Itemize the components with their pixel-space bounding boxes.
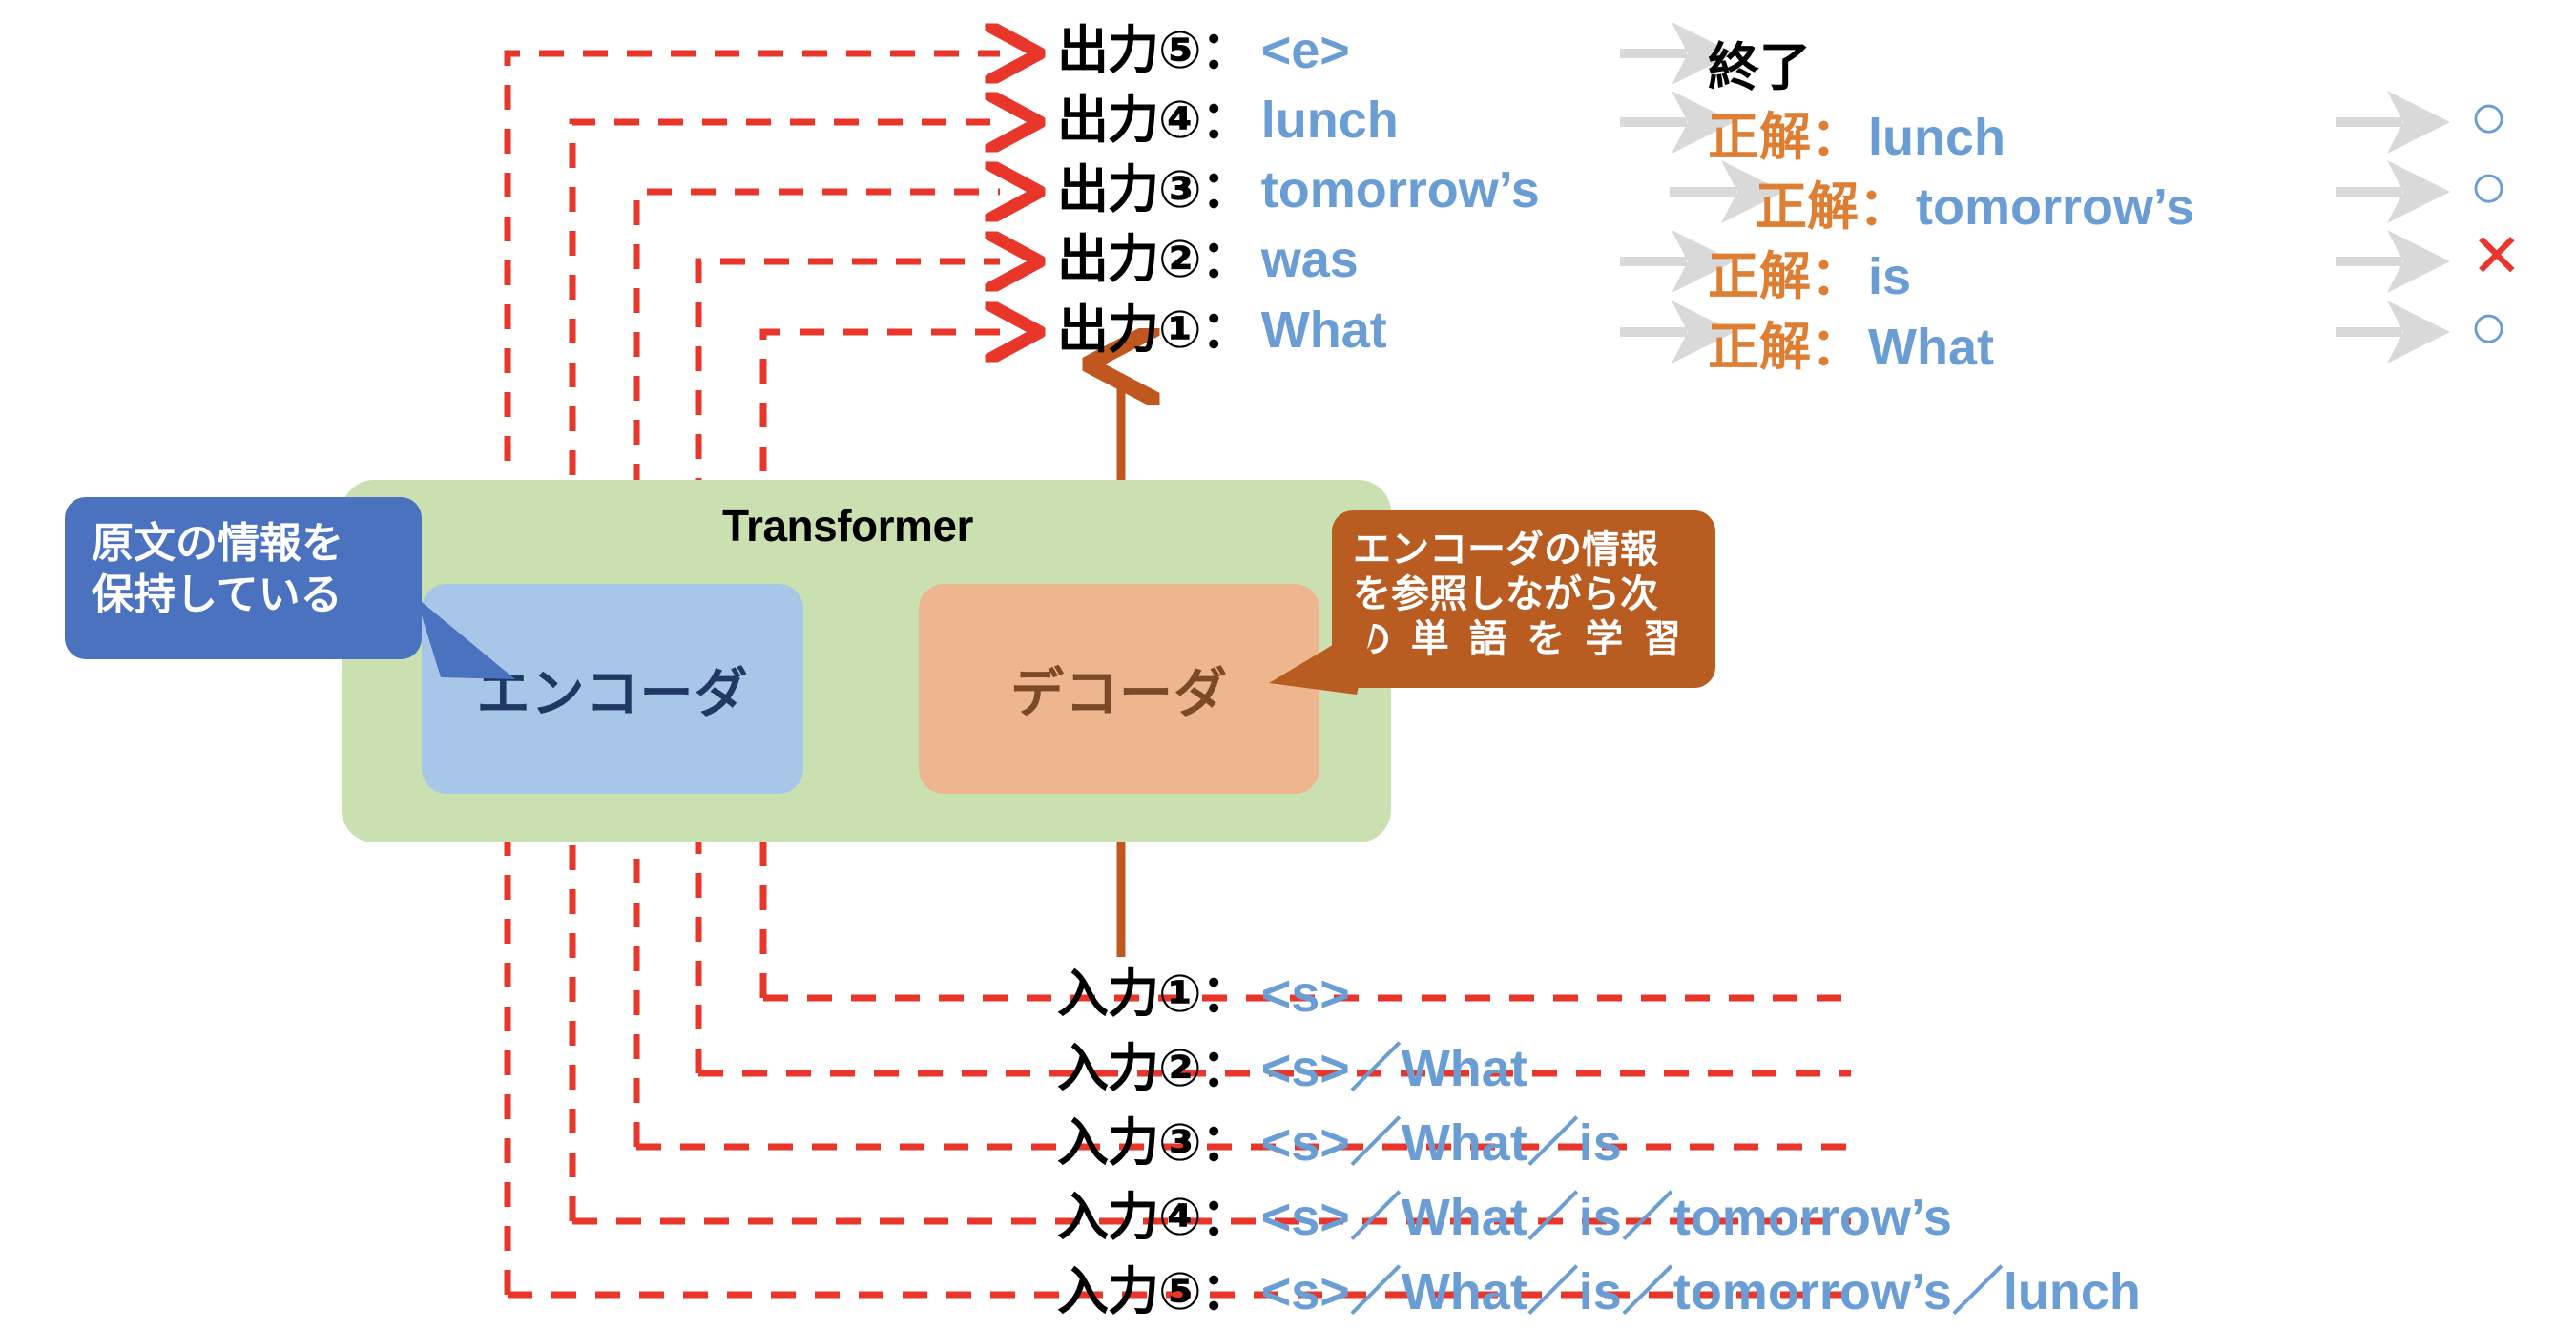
- decoder-callout-line2: を参照しながら次: [1353, 572, 1715, 617]
- truth-row: 正解：What: [1708, 304, 1994, 380]
- truth-colon: ：: [1811, 248, 1862, 305]
- status-badge-incorrect: ✕: [2471, 225, 2523, 286]
- input-row: 入力⑤：<s>／What／is／tomorrow’s／lunch: [1057, 1266, 2141, 1318]
- truth-value: tomorrow’s: [1916, 178, 2194, 236]
- truth-label: 正解: [1708, 109, 1811, 166]
- decoder-label: デコーダ: [1010, 651, 1228, 728]
- truth-row: 正解：is: [1708, 234, 1911, 309]
- output-label: 出力①：: [1057, 304, 1252, 356]
- input-label: 入力⑤：: [1057, 1263, 1252, 1320]
- truth-value: What: [1868, 319, 1994, 376]
- output-row: 出力⑤： <e>: [1057, 25, 1350, 76]
- output-value: lunch: [1261, 94, 1399, 146]
- input-label: 入力①：: [1057, 966, 1252, 1023]
- input-row: 入力④：<s>／What／is／tomorrow’s: [1057, 1192, 1952, 1243]
- output-label: 出力③：: [1057, 164, 1252, 216]
- output-label: 出力⑤：: [1057, 25, 1252, 76]
- end-text: 終了: [1708, 25, 1811, 100]
- encoder-callout-line2: 保持している: [92, 570, 422, 621]
- output-row: 出力④： lunch: [1057, 94, 1399, 146]
- truth-value: lunch: [1868, 109, 2005, 166]
- encoder-callout: 原文の情報を 保持している: [65, 497, 422, 659]
- status-badge-correct: ○: [2469, 294, 2508, 359]
- encoder-callout-line1: 原文の情報を: [92, 518, 422, 570]
- output-value: What: [1261, 304, 1387, 356]
- truth-label: 正解: [1755, 178, 1859, 236]
- diagram-canvas: Transformer エンコーダ デコーダ 原文の情報を 保持している エンコ…: [0, 0, 2576, 1330]
- decoder-box[interactable]: デコーダ: [919, 584, 1319, 794]
- output-value: tomorrow’s: [1261, 164, 1540, 216]
- status-badge-correct: ○: [2469, 84, 2508, 149]
- output-value: <e>: [1261, 25, 1350, 76]
- input-value: <s>／What／is／tomorrow’s／lunch: [1261, 1263, 2141, 1320]
- output-row: 出力②： was: [1057, 234, 1359, 285]
- truth-colon: ：: [1859, 178, 1910, 236]
- input-value: <s>: [1261, 966, 1350, 1023]
- decoder-callout: エンコーダの情報 を参照しながら次 の単語を学習: [1332, 510, 1715, 688]
- encoder-callout-tail: [416, 597, 521, 704]
- truth-row: 正解：tomorrow’s: [1755, 164, 2194, 239]
- truth-colon: ：: [1811, 109, 1862, 166]
- input-label: 入力②：: [1057, 1040, 1252, 1097]
- input-row: 入力①：<s>: [1057, 968, 1350, 1020]
- input-label: 入力④：: [1057, 1189, 1252, 1246]
- truth-label: 正解: [1708, 248, 1811, 305]
- output-label: 出力②：: [1057, 234, 1252, 285]
- status-badge-correct: ○: [2469, 154, 2508, 218]
- input-value: <s>／What: [1261, 1040, 1527, 1097]
- input-label: 入力③：: [1057, 1114, 1252, 1172]
- decoder-callout-tail: [1269, 618, 1374, 723]
- gray-arrows-to-mark: [2336, 122, 2402, 332]
- truth-value: is: [1868, 248, 1911, 305]
- truth-colon: ：: [1811, 319, 1862, 376]
- decoder-callout-line3: の単語を学習: [1353, 617, 1681, 662]
- input-value: <s>／What／is: [1261, 1114, 1622, 1172]
- input-row: 入力②：<s>／What: [1057, 1043, 1527, 1094]
- output-row: 出力①： What: [1057, 304, 1387, 356]
- decoder-callout-line1: エンコーダの情報: [1353, 528, 1715, 572]
- output-label: 出力④：: [1057, 94, 1252, 146]
- truth-row: 正解：lunch: [1708, 94, 2005, 170]
- end-label: 終了: [1708, 39, 1811, 96]
- transformer-title: Transformer: [722, 500, 973, 551]
- output-row: 出力③： tomorrow’s: [1057, 164, 1540, 216]
- input-row: 入力③：<s>／What／is: [1057, 1117, 1622, 1169]
- truth-label: 正解: [1708, 319, 1811, 376]
- input-value: <s>／What／is／tomorrow’s: [1261, 1189, 1952, 1246]
- output-value: was: [1261, 234, 1359, 285]
